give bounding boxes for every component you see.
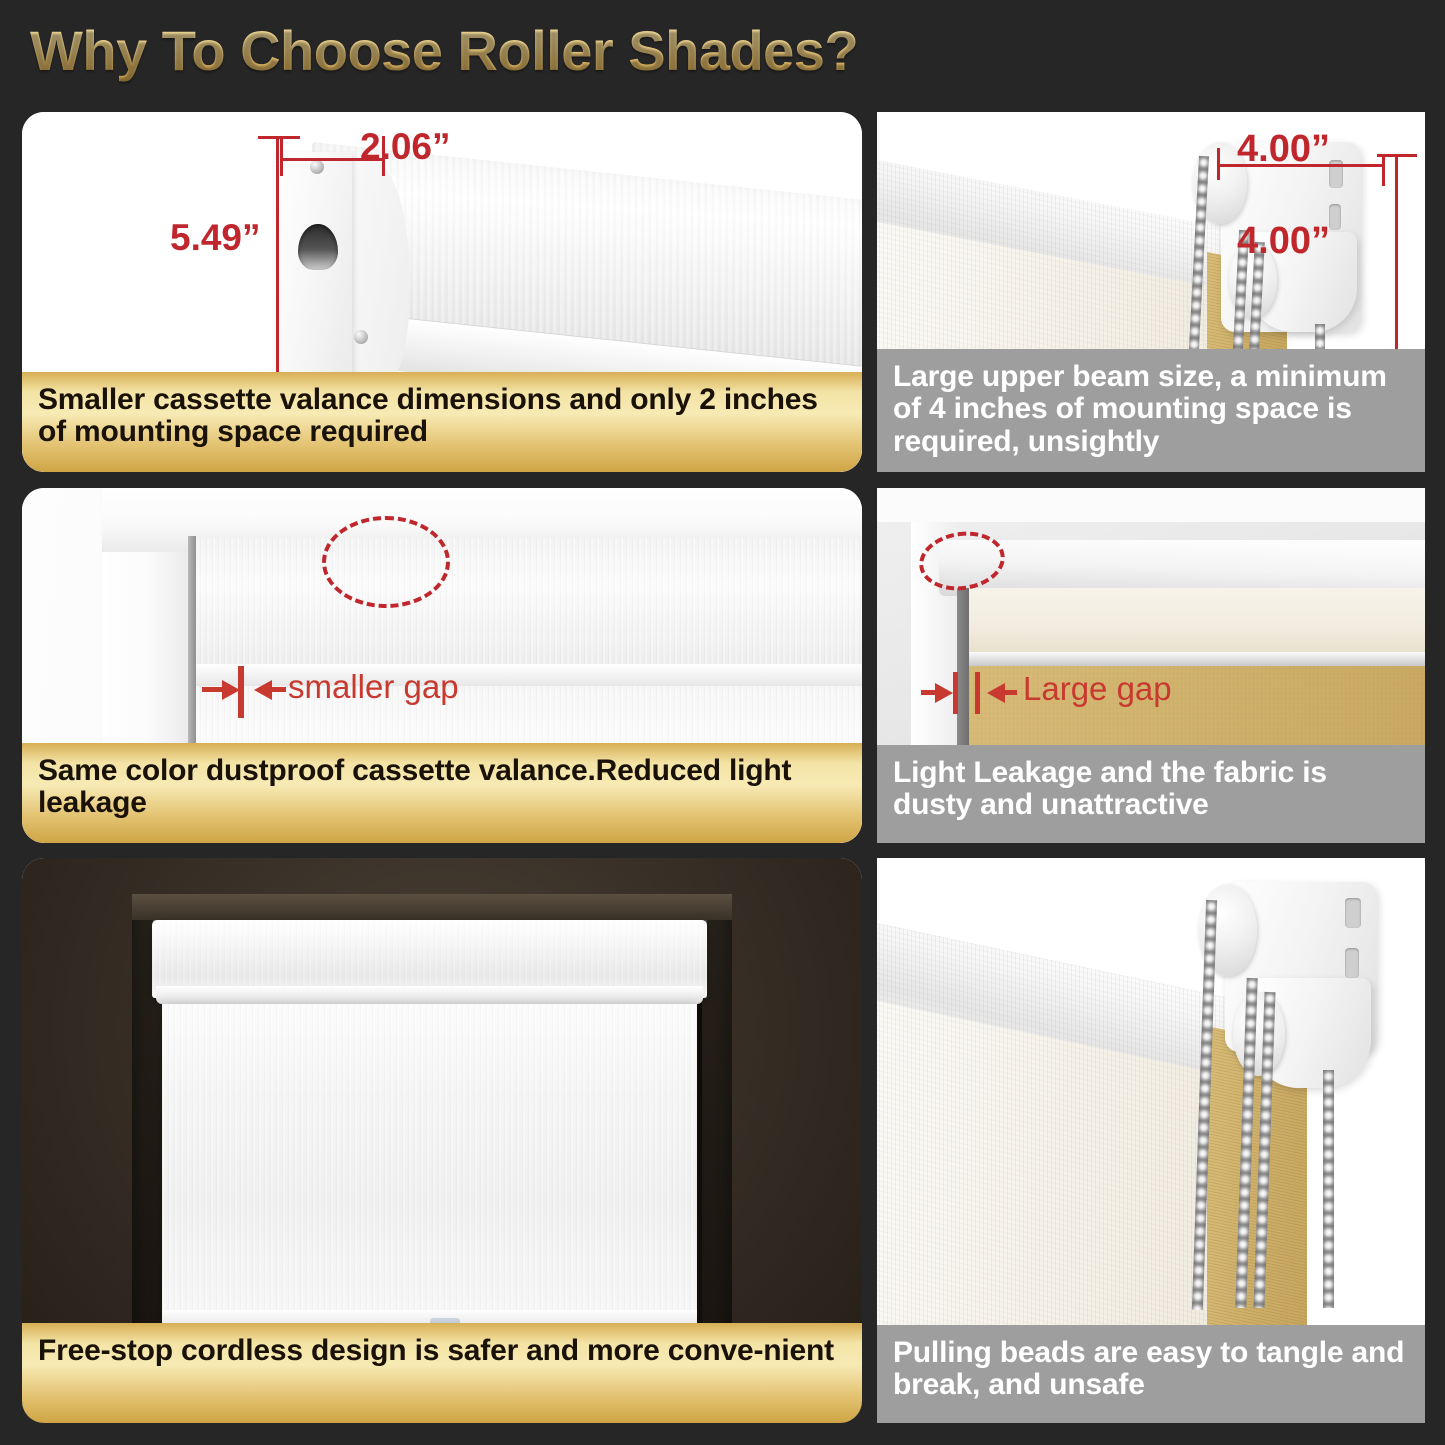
beam-width-tick-left bbox=[1217, 148, 1220, 180]
gap-arrow-left-stem bbox=[202, 687, 224, 692]
shade-upper-icon bbox=[194, 538, 862, 668]
bracket-slot-icon bbox=[1345, 948, 1359, 978]
screw-icon bbox=[310, 160, 324, 174]
highlight-ellipse-icon bbox=[322, 516, 450, 608]
panel-1-smaller-cassette: 2.06” 5.49” Smaller cassette valance dim… bbox=[22, 112, 862, 472]
roller-rod-icon bbox=[957, 652, 1425, 666]
height-dim-tick-top bbox=[258, 136, 300, 139]
gap-arrow-left-icon bbox=[222, 680, 240, 700]
gap-arrow-right-stem bbox=[272, 687, 286, 692]
panel-2-caption: Large upper beam size, a minimum of 4 in… bbox=[877, 349, 1425, 472]
infographic-page: Why To Choose Roller Shades? 2.06” bbox=[0, 0, 1445, 1445]
bead-chain-icon[interactable] bbox=[1323, 1070, 1334, 1308]
valance-top-slot-icon bbox=[298, 224, 338, 270]
panel-3-caption: Same color dustproof cassette valance.Re… bbox=[22, 743, 862, 843]
gap-arrow-right-icon bbox=[254, 680, 272, 700]
beam-width-label: 4.00” bbox=[1237, 128, 1330, 171]
bracket-slot-icon bbox=[1345, 898, 1361, 928]
height-dimension-label: 5.49” bbox=[170, 217, 261, 259]
beam-width-tick-right bbox=[1382, 154, 1385, 186]
beam-height-tick-top bbox=[1377, 154, 1417, 157]
panel-4-caption: Light Leakage and the fabric is dusty an… bbox=[877, 745, 1425, 843]
panel-5-caption: Free-stop cordless design is safer and m… bbox=[22, 1323, 862, 1423]
panel-3-dustproof-valance: smaller gap Same color dustproof cassett… bbox=[22, 488, 862, 843]
panel-2-large-beam: 4.00” 4.00” Large upper beam size, a min… bbox=[877, 112, 1425, 472]
roller-shade-icon bbox=[162, 1004, 697, 1324]
panel-5-cordless-design: Free-stop cordless design is safer and m… bbox=[22, 858, 862, 1423]
beam-height-label: 4.00” bbox=[1237, 220, 1330, 263]
panel-4-light-leakage: Large gap Light Leakage and the fabric i… bbox=[877, 488, 1425, 843]
beam-height-dim-line bbox=[1395, 154, 1398, 354]
panel-6-pulling-beads: Pulling beads are easy to tangle and bre… bbox=[877, 858, 1425, 1423]
valance-panel-icon bbox=[957, 588, 1425, 656]
gap-marker-icon bbox=[953, 672, 958, 714]
panel-6-caption: Pulling beads are easy to tangle and bre… bbox=[877, 1325, 1425, 1423]
bracket-slot-icon bbox=[1329, 204, 1341, 230]
panel-grid: 2.06” 5.49” Smaller cassette valance dim… bbox=[0, 0, 1445, 1445]
gap-marker-icon bbox=[975, 672, 980, 714]
screw-icon bbox=[354, 330, 368, 344]
width-dimension-label: 2.06” bbox=[360, 126, 451, 168]
smaller-gap-label: smaller gap bbox=[288, 668, 459, 706]
gap-arrow-right-stem bbox=[1005, 690, 1017, 695]
gap-arrow-right-icon bbox=[987, 683, 1005, 703]
large-gap-label: Large gap bbox=[1023, 670, 1172, 708]
gap-arrow-left-icon bbox=[935, 683, 953, 703]
roller-endcap-lower-icon bbox=[1233, 992, 1285, 1076]
panel-1-caption: Smaller cassette valance dimensions and … bbox=[22, 372, 862, 472]
width-dim-tick-left bbox=[280, 136, 283, 176]
